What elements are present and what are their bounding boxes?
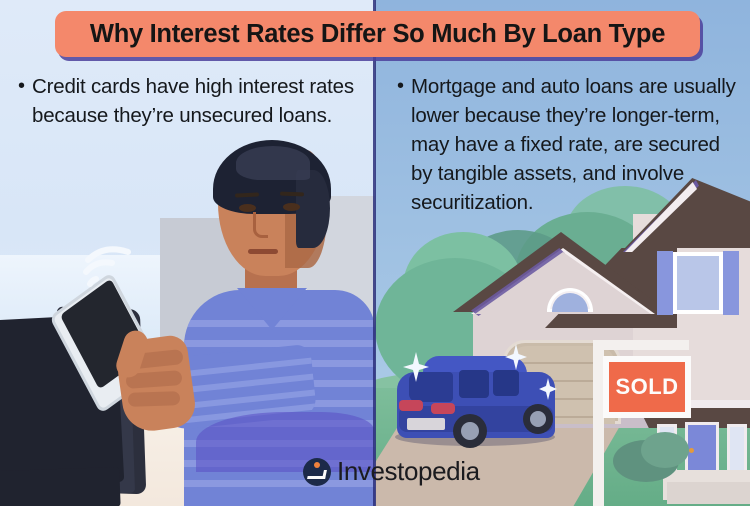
hair-highlight: [236, 146, 310, 180]
logo-wordmark: Investopedia: [337, 456, 480, 487]
license-plate: [407, 418, 445, 430]
car-side-window: [459, 370, 489, 398]
porch-steps-lower: [667, 482, 750, 504]
sparkle-icon: [403, 352, 429, 382]
upper-window-glass: [677, 256, 719, 310]
car-hubcap: [530, 411, 546, 427]
nose: [253, 212, 268, 238]
v-neck-collar: [237, 288, 307, 330]
investopedia-mark-icon: [303, 458, 331, 486]
list-item: • Mortgage and auto loans are usually lo…: [397, 72, 737, 217]
car-side-window: [493, 370, 519, 396]
title-bar: Why Interest Rates Differ So Much By Loa…: [55, 11, 700, 57]
right-bullet-list: • Mortgage and auto loans are usually lo…: [397, 72, 737, 217]
door-knob-icon: [689, 448, 694, 453]
logo-accent-dot-icon: [314, 462, 320, 468]
window-shutter: [723, 251, 739, 315]
sparkle-icon: [539, 378, 557, 400]
page-title: Why Interest Rates Differ So Much By Loa…: [90, 20, 665, 49]
infographic-root: SOLD Why Interest Rates Differ So Much B…: [0, 0, 750, 506]
wifi-icon: [82, 238, 144, 290]
eye-right: [283, 203, 300, 211]
eye-left: [239, 204, 256, 212]
eyebrow-right: [280, 192, 304, 197]
car-taillight: [431, 403, 455, 414]
sparkle-icon: [505, 344, 527, 370]
right-bullet-text: Mortgage and auto loans are usually lowe…: [411, 72, 737, 217]
panel-divider: [373, 0, 376, 506]
investopedia-logo: Investopedia: [303, 456, 480, 487]
hair-side: [296, 170, 330, 248]
shrub: [641, 432, 689, 468]
sold-sign-label: SOLD: [615, 374, 678, 400]
bullet-dot-icon: •: [397, 72, 404, 101]
sign-arm: [593, 340, 689, 350]
left-bullet-list: • Credit cards have high interest rates …: [18, 72, 366, 130]
left-bullet-text: Credit cards have high interest rates be…: [32, 72, 366, 130]
car-taillight: [399, 400, 423, 411]
laptop-base: [0, 467, 121, 506]
logo-swoosh-icon: [307, 470, 327, 479]
car-hubcap: [461, 422, 479, 440]
finger: [128, 391, 180, 407]
door-sidelight: [727, 424, 747, 476]
sold-sign-inner-border: SOLD: [607, 360, 687, 414]
bullet-dot-icon: •: [18, 72, 25, 101]
window-shutter: [657, 251, 673, 315]
list-item: • Credit cards have high interest rates …: [18, 72, 366, 130]
mouth: [248, 249, 278, 254]
